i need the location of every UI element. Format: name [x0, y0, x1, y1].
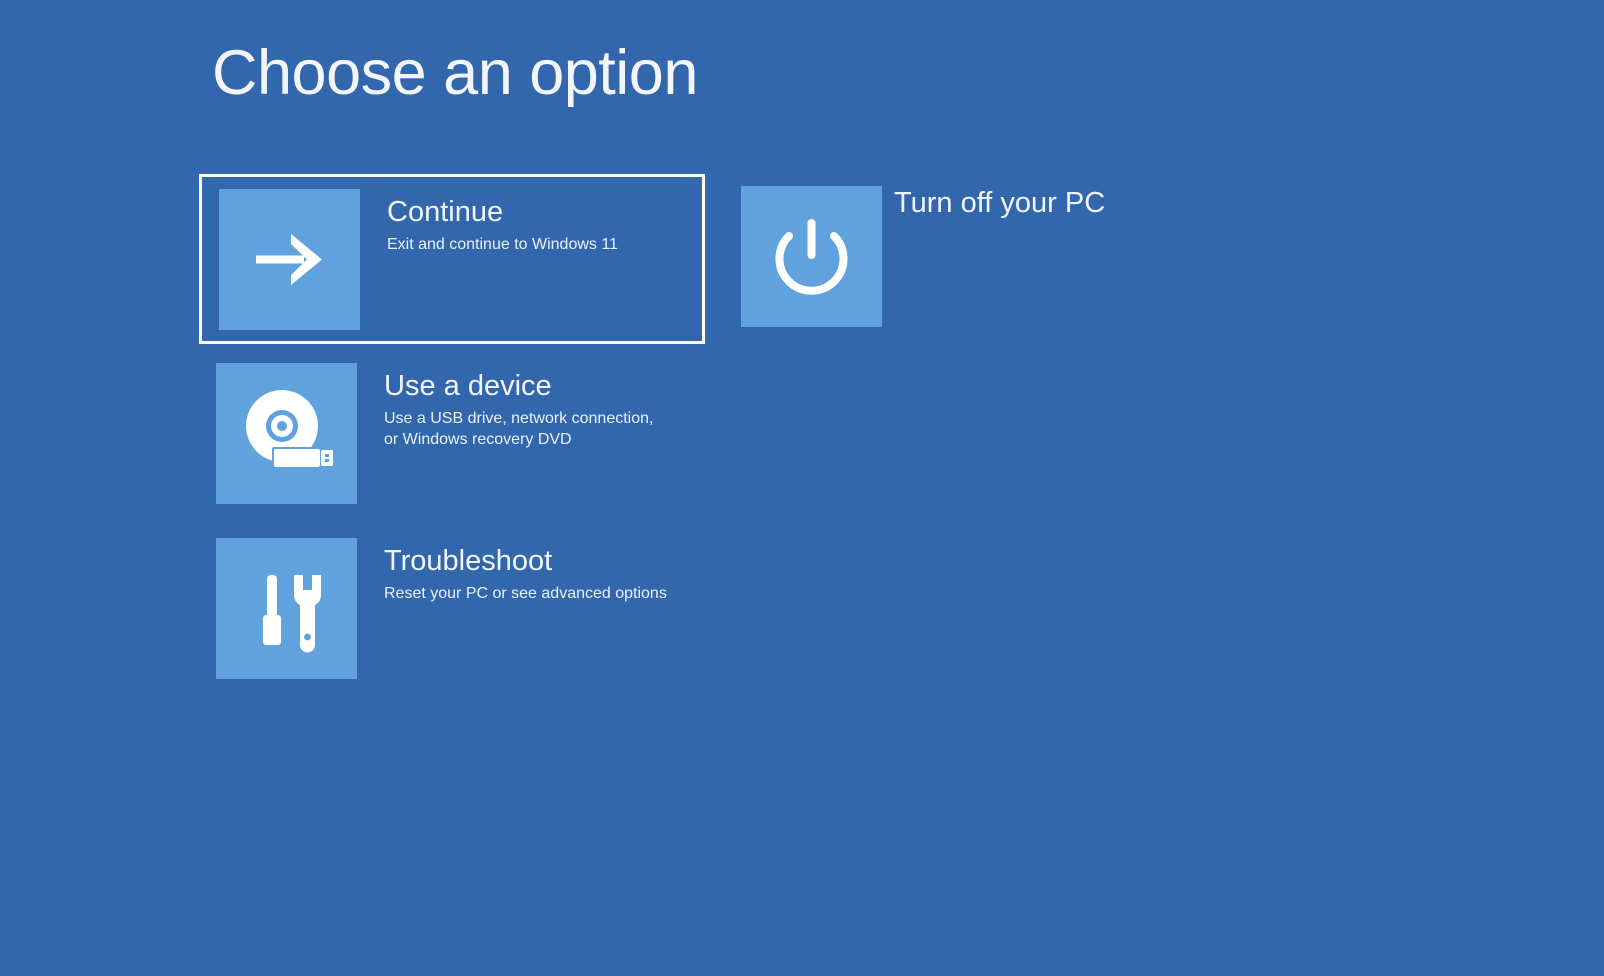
option-use-a-device-text: Use a device Use a USB drive, network co… — [384, 363, 653, 451]
option-turn-off-your-pc-title: Turn off your PC — [894, 188, 1105, 220]
option-troubleshoot-title: Troubleshoot — [384, 546, 667, 578]
option-use-a-device-subtitle: Use a USB drive, network connection, or … — [384, 408, 653, 451]
option-turn-off-your-pc-tile — [741, 186, 882, 327]
option-continue-title: Continue — [387, 197, 618, 229]
recovery-choose-an-option-screen: Choose an option Continue Exit and conti… — [0, 0, 1604, 976]
power-icon — [741, 186, 882, 327]
option-use-a-device[interactable]: Use a device Use a USB drive, network co… — [216, 363, 776, 508]
option-turn-off-your-pc-text: Turn off your PC — [894, 186, 1105, 220]
option-troubleshoot-text: Troubleshoot Reset your PC or see advanc… — [384, 538, 667, 604]
option-troubleshoot-tile — [216, 538, 357, 679]
page-title: Choose an option — [212, 42, 698, 105]
option-troubleshoot[interactable]: Troubleshoot Reset your PC or see advanc… — [216, 538, 776, 683]
option-use-a-device-tile — [216, 363, 357, 504]
option-continue[interactable]: Continue Exit and continue to Windows 11 — [199, 174, 705, 344]
option-troubleshoot-subtitle: Reset your PC or see advanced options — [384, 583, 667, 605]
option-use-a-device-title: Use a device — [384, 371, 653, 403]
option-turn-off-your-pc[interactable]: Turn off your PC — [741, 186, 1261, 331]
option-continue-subtitle: Exit and continue to Windows 11 — [387, 234, 618, 256]
disc-usb-icon — [216, 363, 357, 504]
arrow-right-icon — [219, 189, 360, 330]
screwdriver-wrench-icon — [216, 538, 357, 679]
option-continue-tile — [219, 189, 360, 330]
option-continue-text: Continue Exit and continue to Windows 11 — [387, 189, 618, 255]
